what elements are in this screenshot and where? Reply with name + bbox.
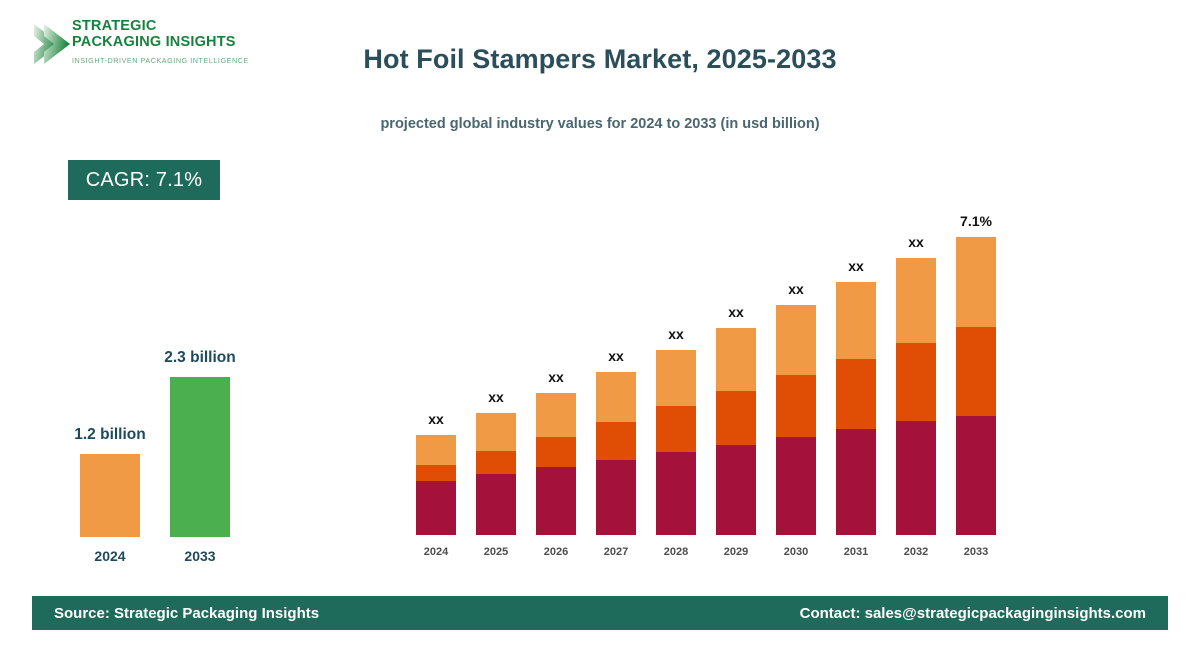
stacked-bar-segment	[896, 421, 936, 535]
stacked-bar-top-label: xx	[401, 411, 471, 427]
stacked-bar	[716, 328, 756, 535]
stacked-bar-segment	[776, 305, 816, 375]
stacked-bar-segment	[656, 406, 696, 452]
stacked-bar-year-label: 2025	[464, 546, 528, 558]
stacked-bar-segment	[836, 429, 876, 535]
comparison-bar-value-label: 2.3 billion	[120, 349, 280, 367]
stacked-bar-top-label: xx	[761, 281, 831, 297]
footer-source: Source: Strategic Packaging Insights	[54, 605, 319, 622]
stacked-bar	[956, 237, 996, 535]
stacked-bar-year-label: 2031	[824, 546, 888, 558]
brand-name-line1: STRATEGIC	[72, 18, 262, 34]
cagr-badge: CAGR: 7.1%	[68, 160, 220, 200]
stacked-bar-segment	[656, 452, 696, 535]
stacked-bar-year-label: 2029	[704, 546, 768, 558]
stacked-bar-segment	[836, 282, 876, 359]
stacked-bar	[416, 435, 456, 535]
stacked-bar	[656, 350, 696, 535]
stacked-bar-top-label: xx	[461, 389, 531, 405]
stacked-bar-segment	[476, 474, 516, 535]
stacked-bar-top-label: 7.1%	[941, 213, 1011, 229]
stacked-bar-segment	[956, 327, 996, 416]
stacked-bar	[596, 372, 636, 535]
stacked-bar-year-label: 2024	[404, 546, 468, 558]
comparison-bar	[170, 377, 230, 537]
stacked-bar-segment	[716, 391, 756, 445]
stacked-bar-segment	[836, 359, 876, 429]
stacked-bar-year-label: 2026	[524, 546, 588, 558]
stacked-bar-segment	[536, 437, 576, 467]
stacked-bar-year-label: 2030	[764, 546, 828, 558]
yearly-stacked-forecast-chart: xx2024xx2025xx2026xx2027xx2028xx2029xx20…	[400, 190, 1020, 560]
stacked-bar-segment	[416, 481, 456, 535]
footer-contact: Contact: sales@strategicpackaginginsight…	[800, 605, 1146, 622]
stacked-bar-segment	[596, 372, 636, 422]
stacked-bar	[836, 282, 876, 535]
comparison-bar-year-label: 2024	[65, 548, 155, 564]
endpoint-comparison-chart: 1.2 billion20242.3 billion2033	[0, 300, 330, 570]
stacked-bar-top-label: xx	[581, 348, 651, 364]
stacked-bar-segment	[476, 451, 516, 474]
stacked-bar-year-label: 2028	[644, 546, 708, 558]
stacked-bar-segment	[416, 435, 456, 465]
stacked-bar-segment	[776, 375, 816, 437]
stacked-bar-year-label: 2027	[584, 546, 648, 558]
stacked-bar-segment	[536, 393, 576, 437]
page-title: Hot Foil Stampers Market, 2025-2033	[0, 44, 1200, 75]
stacked-bar-segment	[476, 413, 516, 451]
comparison-bar	[80, 454, 140, 537]
footer-bar: Source: Strategic Packaging Insights Con…	[32, 596, 1168, 630]
stacked-bar-top-label: xx	[881, 234, 951, 250]
stacked-bar-segment	[656, 350, 696, 406]
comparison-bar-year-label: 2033	[155, 548, 245, 564]
stacked-bar-top-label: xx	[641, 326, 711, 342]
stacked-bar-segment	[896, 258, 936, 343]
page-subtitle: projected global industry values for 202…	[0, 116, 1200, 132]
stacked-bar	[476, 413, 516, 535]
stacked-bar-top-label: xx	[821, 258, 891, 274]
stacked-bar-top-label: xx	[701, 304, 771, 320]
stacked-bar-segment	[896, 343, 936, 421]
stacked-bar-segment	[776, 437, 816, 535]
stacked-bar	[776, 305, 816, 535]
stacked-bar-segment	[596, 422, 636, 460]
stacked-bar-segment	[716, 445, 756, 535]
stacked-bar-year-label: 2032	[884, 546, 948, 558]
stacked-bar-segment	[956, 237, 996, 327]
stacked-bar-segment	[596, 460, 636, 535]
stacked-bar-segment	[956, 416, 996, 535]
stacked-bar-segment	[536, 467, 576, 535]
stacked-bar-segment	[416, 465, 456, 481]
stacked-bar-year-label: 2033	[944, 546, 1008, 558]
stacked-bar	[896, 258, 936, 535]
comparison-bar-value-label: 1.2 billion	[30, 426, 190, 444]
stacked-bar-segment	[716, 328, 756, 391]
stacked-bar-top-label: xx	[521, 369, 591, 385]
stacked-bar	[536, 393, 576, 535]
